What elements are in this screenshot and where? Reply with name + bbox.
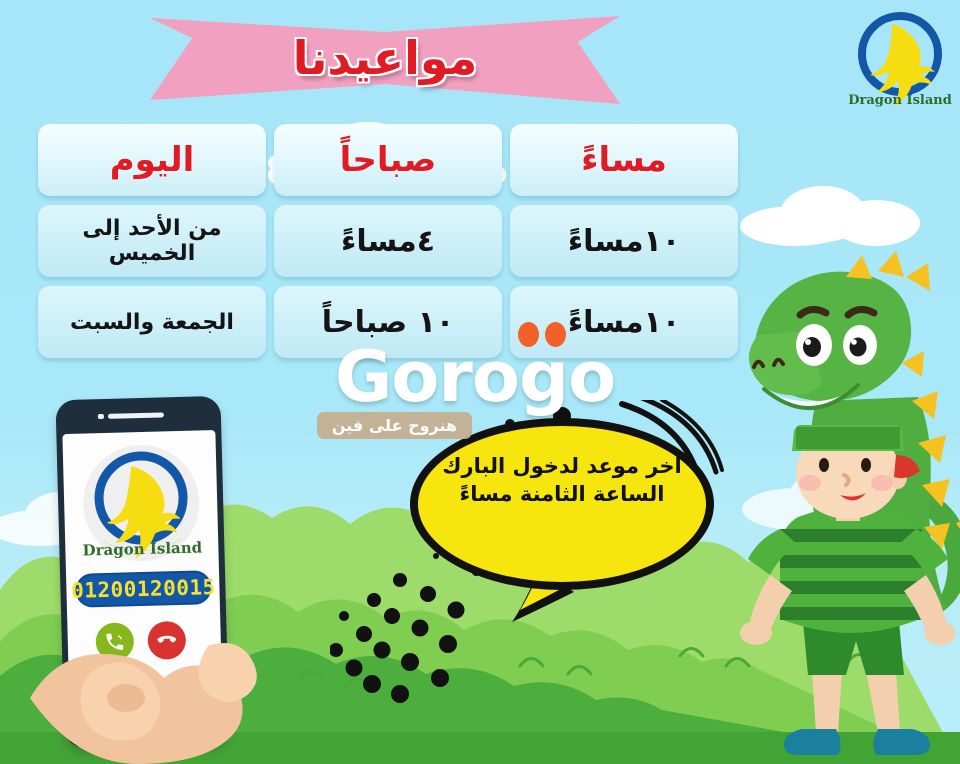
hand-holding-phone (30, 548, 280, 764)
bubble-line-1: أخر موعد لدخول البارك (418, 452, 706, 480)
header-cell-morning: صباحاً (274, 124, 502, 196)
banner: مواعيدنا (150, 12, 620, 112)
cell-day-weekday: من الأحد إلى الخميس (38, 205, 266, 277)
page-title: مواعيدنا (150, 12, 620, 112)
phone-camera-dot (98, 414, 104, 419)
watermark-dot-right (545, 322, 566, 347)
cell-evening-weekday: ١٠مساءً (510, 205, 738, 277)
brand-logo: Dragon Island (846, 4, 954, 112)
cell-morning-weekday: ٤مساءً (274, 205, 502, 277)
header-cell-evening: مساءً (510, 124, 738, 196)
bubble-line-2: الساعة الثامنة مساءً (418, 480, 706, 508)
watermark-dot-left (518, 322, 539, 347)
watermark-dots (305, 336, 645, 416)
brand-logo-caption: Dragon Island (848, 93, 952, 108)
phone-in-hand: Dragon Island 01200120015 (60, 398, 235, 764)
boy-character (740, 425, 955, 764)
watermark: Gorogo هنروح على فين (305, 336, 645, 454)
dragon-island-logo-icon: Dragon Island (79, 440, 204, 565)
bubble-text-block: أخر موعد لدخول البارك الساعة الثامنة مسا… (418, 452, 706, 509)
header-cell-day: اليوم (38, 124, 266, 196)
watermark-tagline: هنروح على فين (317, 412, 472, 439)
table-header-row: اليوم صباحاً مساءً (38, 124, 738, 196)
schedule-table: اليوم صباحاً مساءً من الأحد إلى الخميس ٤… (38, 124, 738, 367)
cell-day-weekend: الجمعة والسبت (38, 286, 266, 358)
table-row: من الأحد إلى الخميس ٤مساءً ١٠مساءً (38, 205, 738, 277)
phone-speaker-slot (108, 412, 164, 418)
poster-canvas: أخر موعد لدخول البارك الساعة الثامنة مسا… (0, 0, 960, 764)
